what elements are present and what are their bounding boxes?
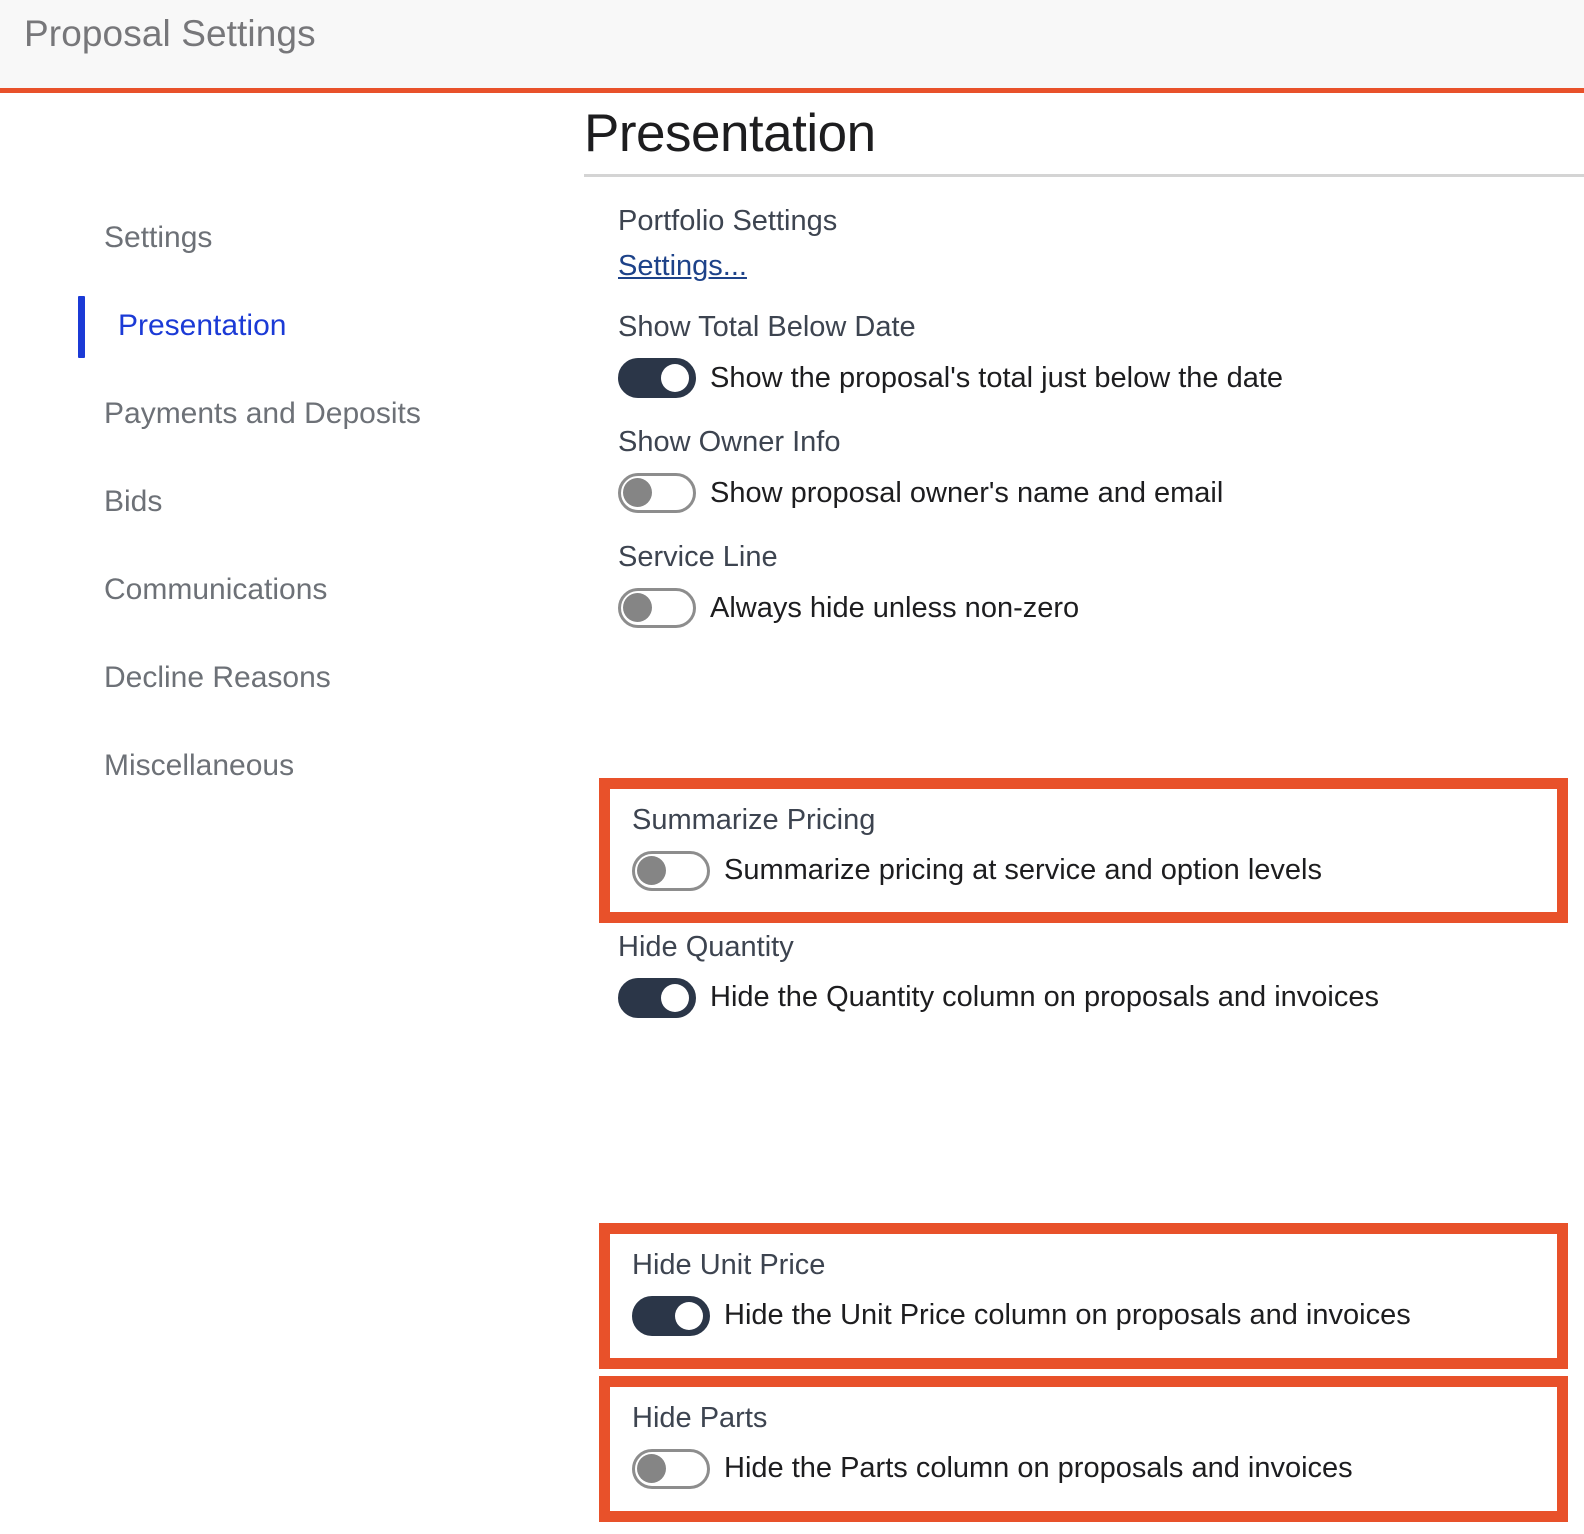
toggle-knob [623, 593, 652, 622]
sidebar-item-communications[interactable]: Communications [0, 546, 578, 634]
sidebar-item-label: Payments and Deposits [104, 397, 421, 431]
toggle-hide-parts[interactable] [632, 1449, 710, 1489]
setting-label: Show Owner Info [618, 423, 1584, 462]
toggle-knob [675, 1302, 703, 1330]
toggle-knob [637, 856, 666, 885]
sidebar-item-bids[interactable]: Bids [0, 458, 578, 546]
toggle-service-line[interactable] [618, 588, 696, 628]
setting-row: Always hide unless non-zero [618, 588, 1584, 628]
highlight-box-hide-parts: Hide Parts Hide the Parts column on prop… [599, 1376, 1568, 1522]
sidebar-item-label: Bids [104, 485, 162, 519]
active-indicator-bar [78, 296, 85, 358]
setting-label: Hide Quantity [618, 928, 1584, 967]
sidebar-item-label: Settings [104, 221, 212, 255]
sidebar-item-label: Communications [104, 573, 327, 607]
toggle-knob [623, 478, 652, 507]
setting-row: Show the proposal's total just below the… [618, 358, 1584, 398]
sidebar-item-presentation[interactable]: Presentation [0, 282, 578, 370]
summarize-pricing-spacer [582, 628, 1584, 788]
sidebar-item-miscellaneous[interactable]: Miscellaneous [0, 722, 578, 810]
toggle-knob [637, 1454, 666, 1483]
setting-label: Service Line [618, 538, 1584, 577]
page-title: Proposal Settings [24, 13, 316, 55]
toggle-knob [661, 364, 689, 392]
highlight-box-summarize-pricing: Summarize Pricing Summarize pricing at s… [599, 778, 1568, 923]
portfolio-settings-link[interactable]: Settings... [618, 250, 747, 283]
setting-summarize-pricing: Summarize Pricing Summarize pricing at s… [610, 789, 1557, 891]
setting-label: Hide Parts [632, 1399, 1557, 1438]
sidebar-item-label: Decline Reasons [104, 661, 331, 695]
app-header: Proposal Settings [0, 0, 1584, 93]
setting-row: Show proposal owner's name and email [618, 473, 1584, 513]
section-title: Presentation [582, 93, 1584, 166]
toggle-summarize-pricing[interactable] [632, 851, 710, 891]
proposal-settings-page: Proposal Settings Settings Presentation … [0, 0, 1584, 1534]
setting-description: Always hide unless non-zero [710, 591, 1079, 626]
setting-row: Hide the Unit Price column on proposals … [632, 1296, 1557, 1336]
sidebar-item-label: Miscellaneous [104, 749, 294, 783]
setting-description: Show proposal owner's name and email [710, 476, 1223, 511]
toggle-knob [661, 984, 689, 1012]
highlight-box-hide-unit-price: Hide Unit Price Hide the Unit Price colu… [599, 1223, 1568, 1369]
setting-row: Summarize pricing at service and option … [632, 851, 1557, 891]
toggle-hide-quantity[interactable] [618, 978, 696, 1018]
setting-hide-unit-price: Hide Unit Price Hide the Unit Price colu… [610, 1234, 1557, 1336]
sidebar-item-payments-and-deposits[interactable]: Payments and Deposits [0, 370, 578, 458]
setting-label: Hide Unit Price [632, 1246, 1557, 1285]
setting-description: Hide the Unit Price column on proposals … [724, 1298, 1411, 1333]
setting-label: Portfolio Settings [618, 202, 1584, 241]
setting-show-total-below-date: Show Total Below Date Show the proposal'… [582, 283, 1584, 398]
setting-label: Show Total Below Date [618, 308, 1584, 347]
setting-description: Summarize pricing at service and option … [724, 853, 1322, 888]
setting-service-line: Service Line Always hide unless non-zero [582, 513, 1584, 628]
setting-row: Hide the Parts column on proposals and i… [632, 1449, 1557, 1489]
toggle-show-owner-info[interactable] [618, 473, 696, 513]
setting-hide-parts: Hide Parts Hide the Parts column on prop… [610, 1387, 1557, 1489]
setting-description: Hide the Quantity column on proposals an… [710, 980, 1379, 1015]
setting-row: Hide the Quantity column on proposals an… [618, 978, 1584, 1018]
toggle-show-total-below-date[interactable] [618, 358, 696, 398]
setting-label: Summarize Pricing [632, 801, 1557, 840]
sidebar-item-decline-reasons[interactable]: Decline Reasons [0, 634, 578, 722]
sidebar-item-label: Presentation [104, 309, 286, 343]
setting-show-owner-info: Show Owner Info Show proposal owner's na… [582, 398, 1584, 513]
toggle-hide-unit-price[interactable] [632, 1296, 710, 1336]
setting-description: Hide the Parts column on proposals and i… [724, 1451, 1353, 1486]
setting-portfolio-settings: Portfolio Settings Settings... [582, 177, 1584, 284]
setting-description: Show the proposal's total just below the… [710, 361, 1283, 396]
sidebar-item-settings[interactable]: Settings [0, 194, 578, 282]
settings-sidebar: Settings Presentation Payments and Depos… [0, 93, 578, 1534]
